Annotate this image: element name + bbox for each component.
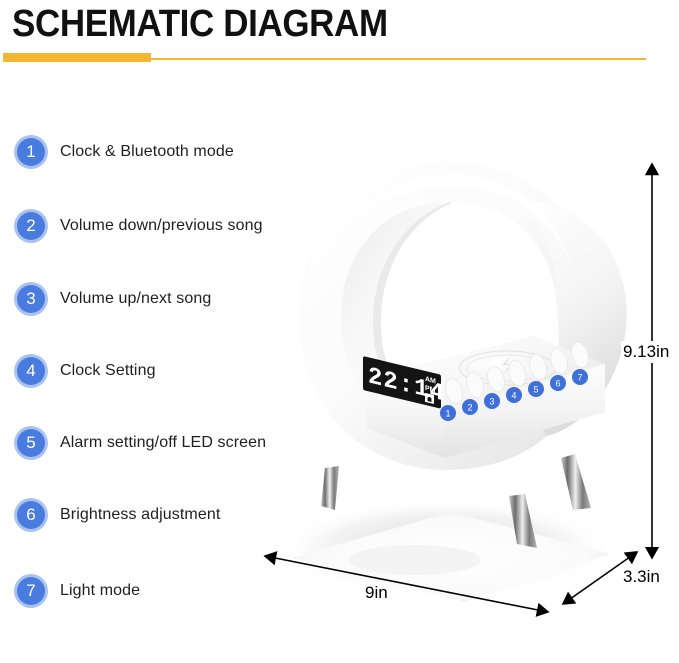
dimension-label-depth: 3.3in bbox=[621, 567, 662, 587]
svg-text:2: 2 bbox=[467, 403, 472, 413]
page-title: SCHEMATIC DIAGRAM bbox=[12, 2, 388, 46]
legend-badge-1: 1 bbox=[14, 135, 48, 169]
legend-item-3: 3 Volume up/next song bbox=[14, 281, 211, 317]
legend-label-5: Alarm setting/off LED screen bbox=[60, 434, 266, 452]
control-marker-6: 6 bbox=[550, 375, 566, 391]
control-marker-1: 1 bbox=[440, 405, 456, 421]
legend-label-2: Volume down/previous song bbox=[60, 217, 263, 235]
legend-label-7: Light mode bbox=[60, 582, 140, 600]
base-plate bbox=[277, 498, 613, 602]
leg-right bbox=[561, 454, 591, 510]
legend-label-4: Clock Setting bbox=[60, 362, 156, 380]
svg-text:7: 7 bbox=[577, 373, 582, 383]
legend-badge-5: 5 bbox=[14, 426, 48, 460]
dimension-label-width: 9in bbox=[362, 583, 391, 603]
legend-label-3: Volume up/next song bbox=[60, 290, 211, 308]
legend-item-4: 4 Clock Setting bbox=[14, 353, 156, 389]
control-marker-7: 7 bbox=[572, 369, 588, 385]
legend-item-7: 7 Light mode bbox=[14, 573, 140, 609]
legend-item-1: 1 Clock & Bluetooth mode bbox=[14, 134, 234, 170]
header-rule-thin bbox=[150, 58, 646, 60]
product-illustration: 22:14 AM PM 1 2 3 4 bbox=[255, 140, 645, 620]
svg-text:5: 5 bbox=[533, 385, 538, 395]
control-marker-2: 2 bbox=[462, 399, 478, 415]
svg-text:4: 4 bbox=[511, 391, 516, 401]
control-marker-4: 4 bbox=[506, 387, 522, 403]
legend-badge-7: 7 bbox=[14, 574, 48, 608]
legend-label-1: Clock & Bluetooth mode bbox=[60, 143, 234, 161]
legend-badge-6: 6 bbox=[14, 498, 48, 532]
svg-text:6: 6 bbox=[555, 379, 560, 389]
legend-item-5: 5 Alarm setting/off LED screen bbox=[14, 425, 266, 461]
legend-badge-2: 2 bbox=[14, 209, 48, 243]
leg-left bbox=[321, 466, 339, 510]
legend-badge-3: 3 bbox=[14, 282, 48, 316]
control-marker-5: 5 bbox=[528, 381, 544, 397]
svg-text:1: 1 bbox=[445, 409, 450, 419]
svg-text:3: 3 bbox=[489, 397, 494, 407]
legend-label-6: Brightness adjustment bbox=[60, 506, 220, 524]
legend-item-6: 6 Brightness adjustment bbox=[14, 497, 220, 533]
control-marker-3: 3 bbox=[484, 393, 500, 409]
legend-badge-4: 4 bbox=[14, 354, 48, 388]
legend-item-2: 2 Volume down/previous song bbox=[14, 208, 263, 244]
dimension-label-height: 9.13in bbox=[621, 341, 671, 363]
header: SCHEMATIC DIAGRAM bbox=[0, 0, 679, 70]
header-rule-thick bbox=[3, 53, 151, 62]
